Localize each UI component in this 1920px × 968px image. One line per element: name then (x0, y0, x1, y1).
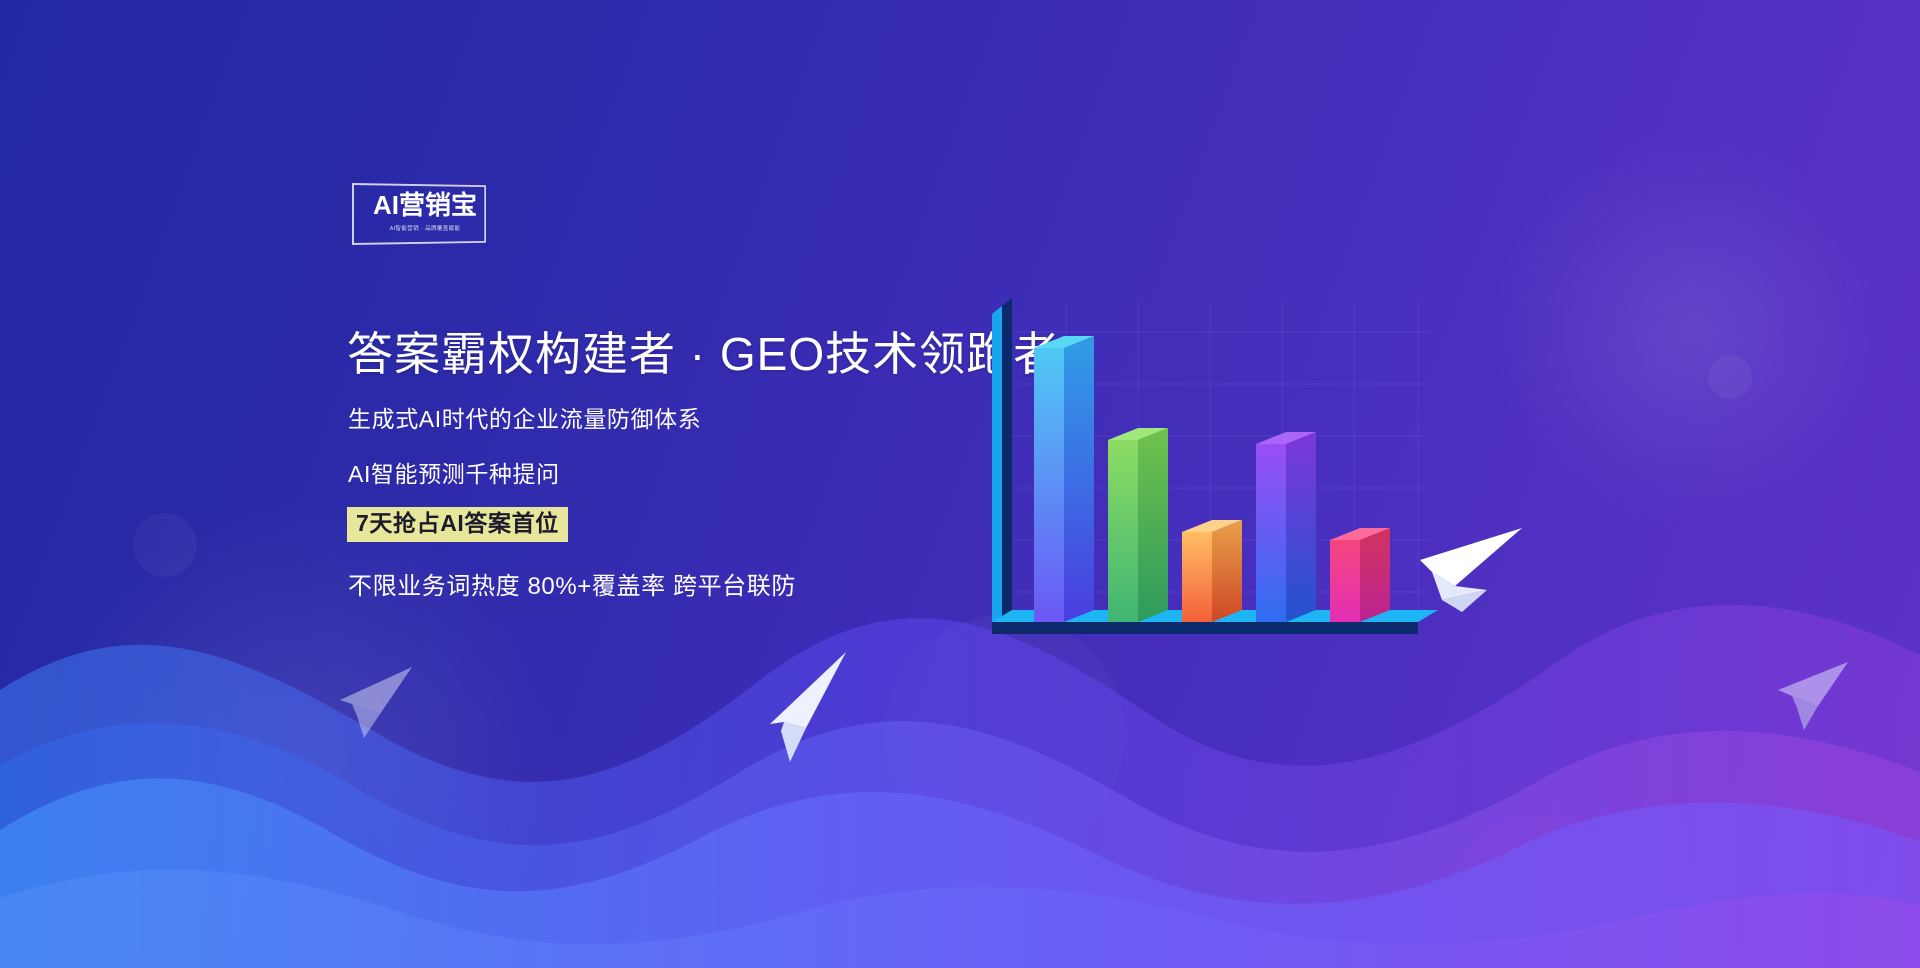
page-title: 答案霸权构建者 · GEO技术领跑者 (347, 318, 1060, 384)
wave-bottom (0, 870, 1920, 968)
hero-feature-list: 不限业务词热度 80%+覆盖率 跨平台联防 (348, 566, 796, 601)
paper-plane-mid-icon (770, 652, 846, 762)
hero-subline-2: AI智能预测千种提问 (348, 455, 560, 489)
chart-bar-4 (1256, 432, 1316, 622)
logo-text: AI营销宝 (352, 191, 498, 219)
background-decoration (0, 0, 1920, 968)
chart-bar-3 (1182, 520, 1242, 622)
chart-bar-2 (1108, 428, 1168, 622)
wave-back (0, 605, 1920, 968)
brand-logo[interactable]: AI营销宝 AI智能营销 · 品牌覆盖赋能 (352, 183, 498, 245)
chart-bar-5 (1330, 528, 1390, 622)
paper-plane-left-icon (340, 667, 412, 738)
hero-banner: AI营销宝 AI智能营销 · 品牌覆盖赋能 答案霸权构建者 · GEO技术领跑者… (0, 0, 1920, 968)
chart-y-axis (992, 298, 1012, 634)
wave-front (0, 778, 1920, 968)
hero-highlight-badge: 7天抢占AI答案首位 (347, 507, 568, 542)
wave-mid (0, 721, 1920, 968)
chart-bar-1 (1034, 336, 1094, 622)
logo-tagline: AI智能营销 · 品牌覆盖赋能 (358, 223, 492, 231)
bar-chart-illustration (978, 292, 1438, 660)
bar-chart-svg (978, 292, 1438, 660)
hero-subline-1: 生成式AI时代的企业流量防御体系 (348, 400, 701, 434)
paper-plane-far-right-icon (1778, 662, 1848, 730)
background-waves-svg (0, 0, 1920, 968)
